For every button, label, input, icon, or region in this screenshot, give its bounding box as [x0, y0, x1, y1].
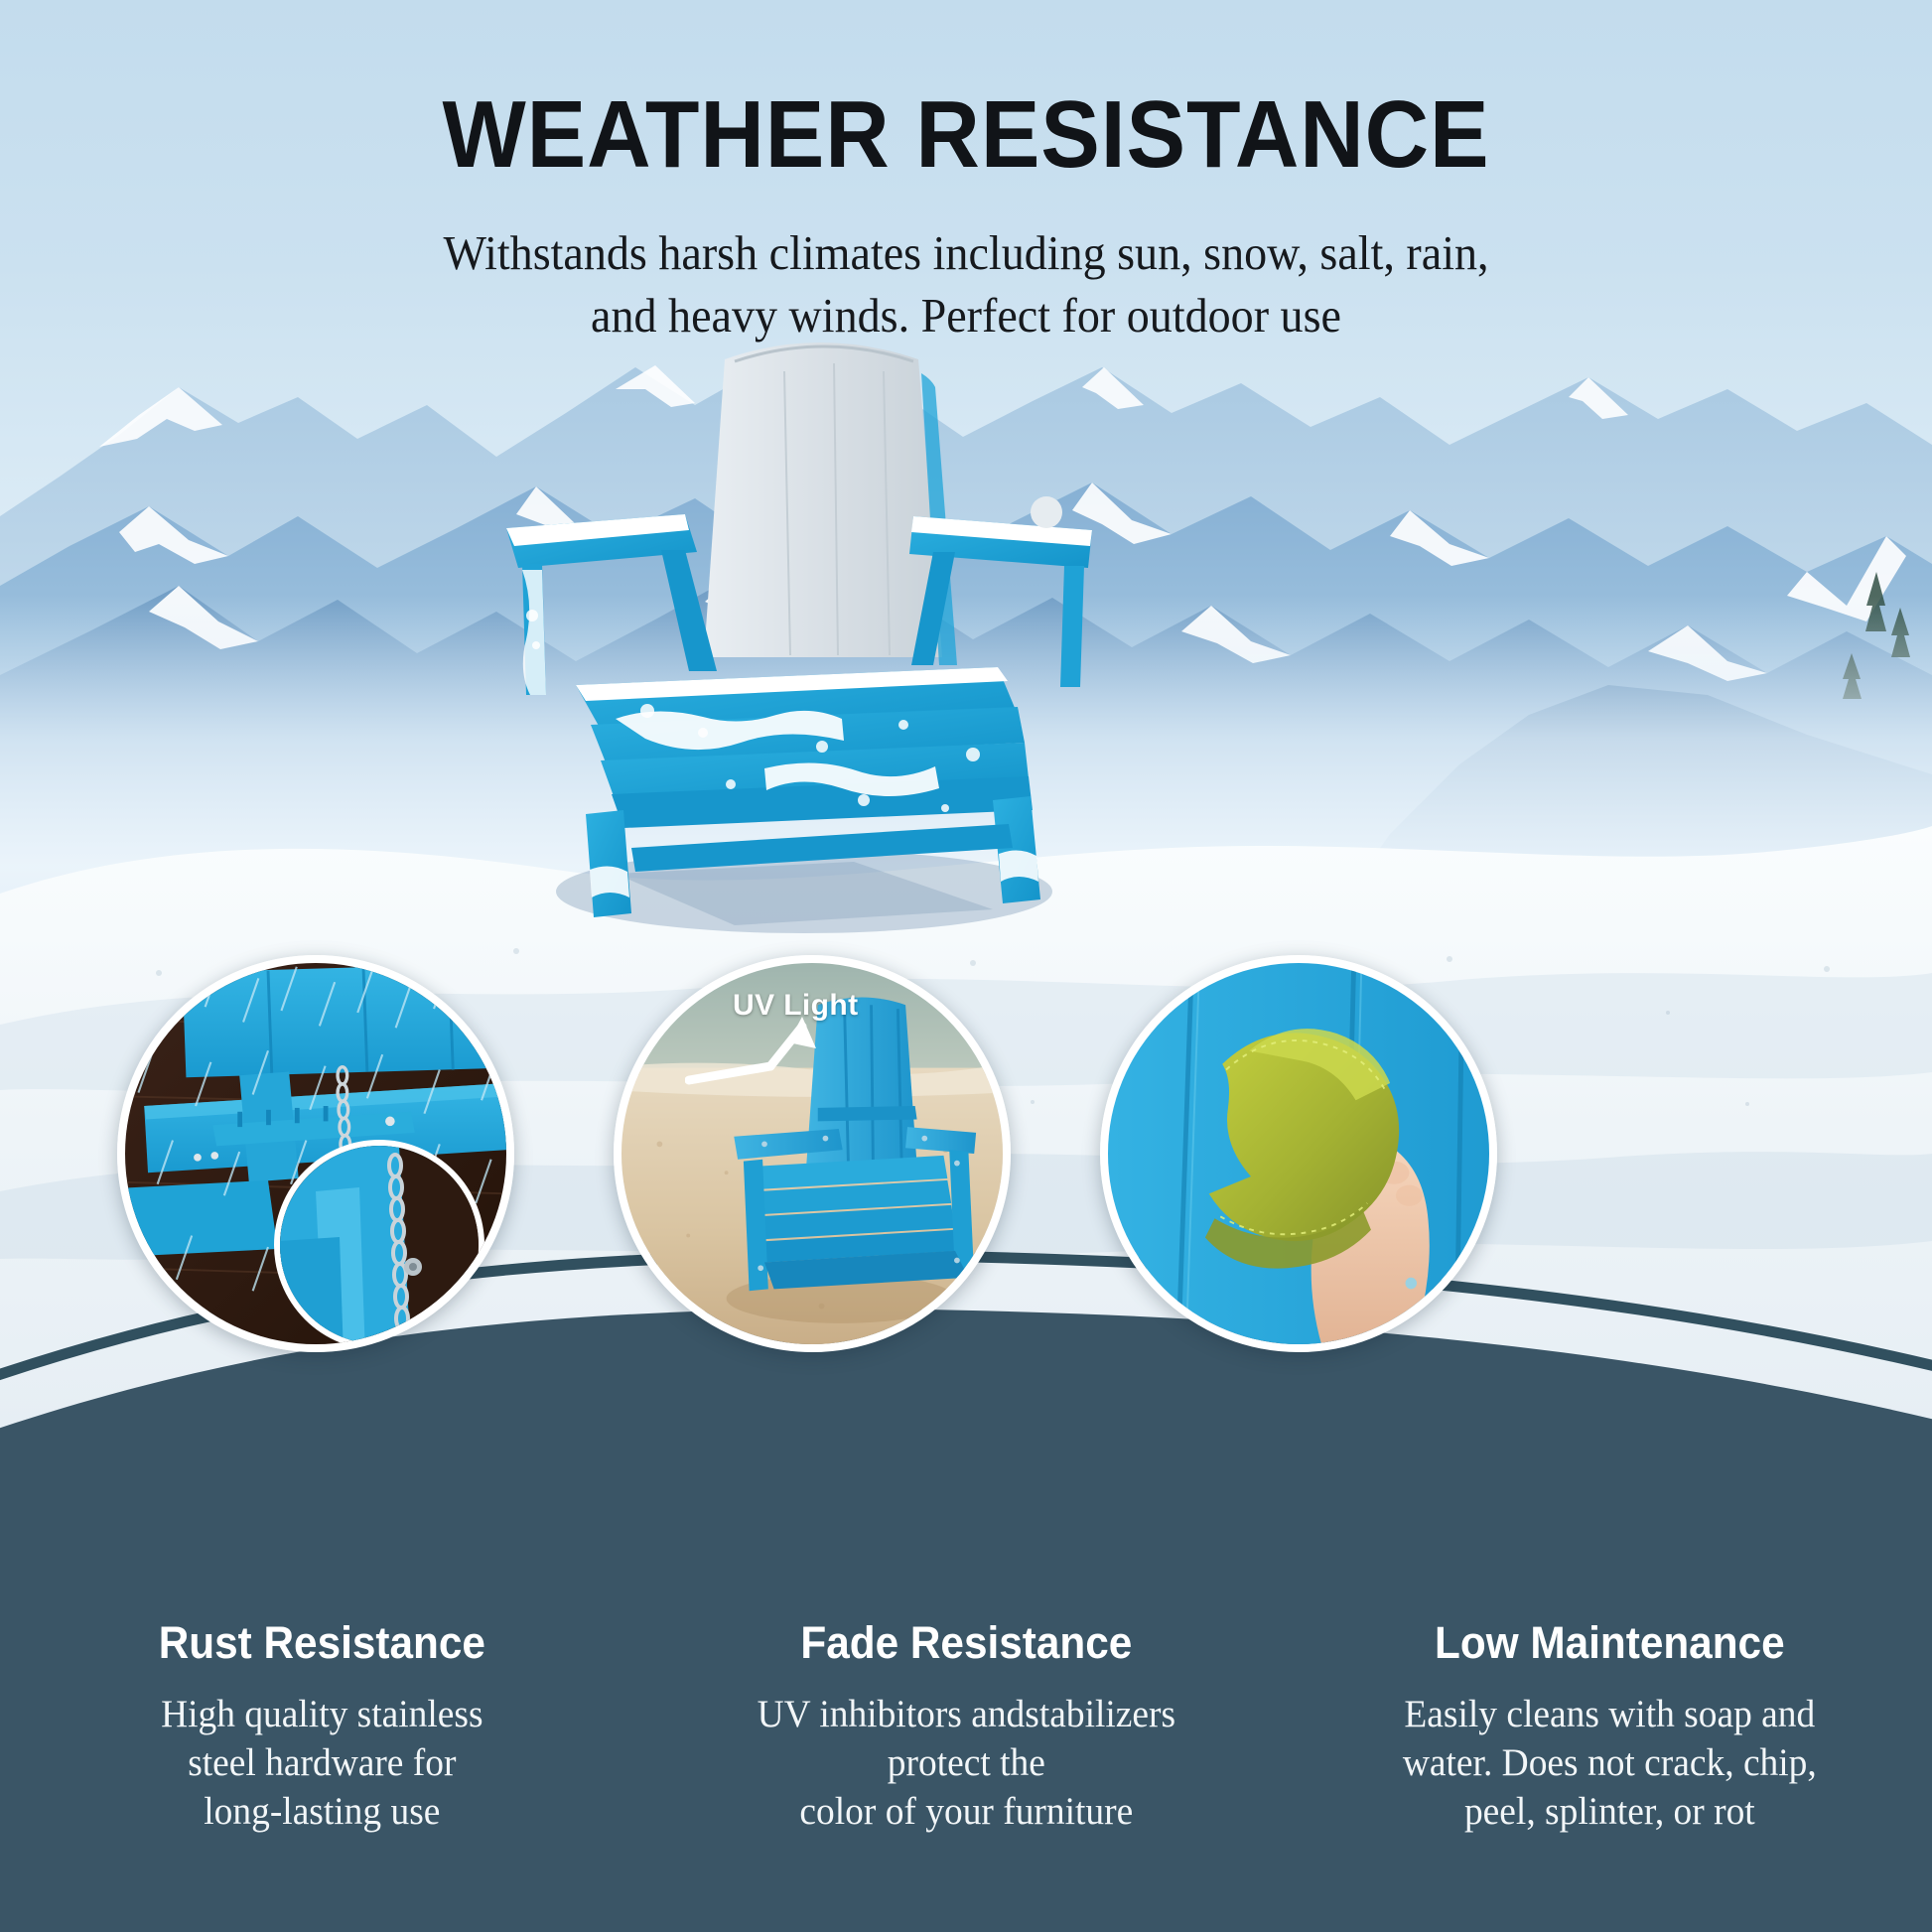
feature-title-rust: Rust Resistance	[46, 1618, 599, 1668]
feature-circle-rust-resistance[interactable]	[117, 955, 514, 1352]
feature-title-low-maintenance: Low Maintenance	[1333, 1618, 1886, 1668]
chain-detail-inset[interactable]	[274, 1140, 484, 1350]
feature-body-fade-line-3: color of your furniture	[684, 1787, 1249, 1836]
header: WEATHER RESISTANCE Withstands harsh clim…	[0, 0, 1932, 346]
subtitle-line-1: Withstands harsh climates including sun,…	[58, 222, 1873, 285]
feature-body-fade-line-1: UV inhibitors andstabilizers	[684, 1690, 1249, 1738]
feature-column-rust-resistance: Rust Resistance High quality stainless s…	[0, 1618, 644, 1836]
feature-column-fade-resistance: Fade Resistance UV inhibitors andstabili…	[644, 1618, 1289, 1836]
feature-body-low-maintenance: Easily cleans with soap and water. Does …	[1327, 1690, 1892, 1836]
feature-circle-low-maintenance[interactable]	[1100, 955, 1497, 1352]
feature-body-rust-line-1: High quality stainless	[40, 1690, 605, 1738]
feature-body-rust: High quality stainless steel hardware fo…	[40, 1690, 605, 1836]
feature-title-fade: Fade Resistance	[689, 1618, 1242, 1668]
feature-text-columns: Rust Resistance High quality stainless s…	[0, 1618, 1932, 1836]
low-maintenance-image	[1108, 963, 1489, 1344]
page-subtitle: Withstands harsh climates including sun,…	[58, 222, 1873, 346]
page-title: WEATHER RESISTANCE	[68, 87, 1864, 183]
subtitle-line-2: and heavy winds. Perfect for outdoor use	[58, 285, 1873, 347]
feature-body-low-maintenance-line-2: water. Does not crack, chip,	[1327, 1738, 1892, 1787]
uv-light-label: UV Light	[733, 989, 859, 1023]
infographic-canvas: WEATHER RESISTANCE Withstands harsh clim…	[0, 0, 1932, 1932]
feature-body-fade: UV inhibitors andstabilizers protect the…	[684, 1690, 1249, 1836]
feature-body-fade-line-2: protect the	[684, 1738, 1249, 1787]
feature-column-low-maintenance: Low Maintenance Easily cleans with soap …	[1288, 1618, 1932, 1836]
feature-body-low-maintenance-line-1: Easily cleans with soap and	[1327, 1690, 1892, 1738]
feature-body-rust-line-2: steel hardware for	[40, 1738, 605, 1787]
feature-body-rust-line-3: long-lasting use	[40, 1787, 605, 1836]
hero-chair-image	[437, 318, 1132, 973]
feature-body-low-maintenance-line-3: peel, splinter, or rot	[1327, 1787, 1892, 1836]
